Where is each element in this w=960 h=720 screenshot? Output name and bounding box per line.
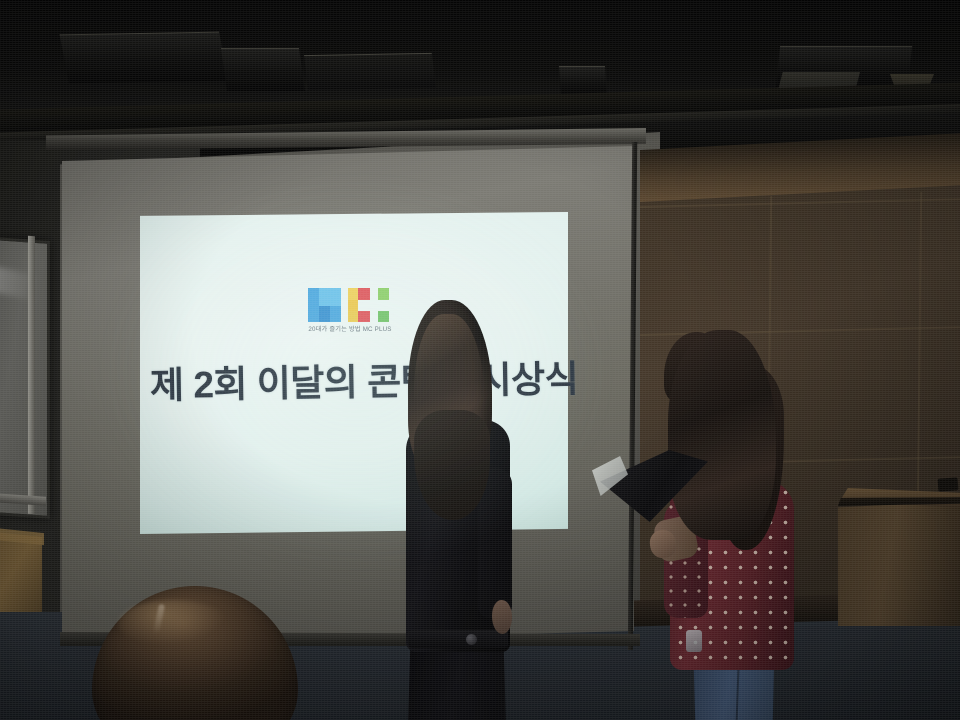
- logo-block-c-bot-yellow: [348, 311, 358, 322]
- desk-object: [938, 477, 959, 491]
- logo-block-m-left-stem: [308, 288, 319, 322]
- ceiling-light-fixture: [559, 66, 607, 95]
- black-skirt: [404, 644, 510, 720]
- logo-block-dot-top-green: [378, 288, 389, 300]
- logo-block-c-top-red: [358, 288, 370, 300]
- presenter-black-jacket: [392, 300, 540, 720]
- logo-block-c-mid-yellow: [348, 300, 358, 311]
- presenter-polkadot: [646, 330, 846, 720]
- ceiling-light-fixture: [221, 48, 305, 91]
- logo-block-c-bot-red: [358, 311, 370, 322]
- audience-hair-highlight: [118, 600, 228, 646]
- logo-block-m-left-diag: [319, 288, 330, 306]
- logo-block-m-right-stem: [330, 306, 341, 322]
- logo-block-dot-bot-green: [378, 311, 389, 322]
- blouse-tag: [686, 630, 702, 652]
- ceiling-light-fixture: [304, 53, 436, 90]
- logo-block-c-top-yellow: [348, 288, 358, 300]
- photo-scene: 20대가 즐기는 방법 MC PLUS 제 2회 이달의 콘텐츠 시상식: [0, 0, 960, 720]
- left-hand: [492, 600, 512, 634]
- logo-block-grid: [300, 284, 400, 324]
- logo-tagline: 20대가 즐기는 방법 MC PLUS: [299, 324, 401, 333]
- logo-block-m-right-diag: [330, 288, 341, 306]
- whiteboard-frame: [28, 236, 35, 514]
- jacket-waistband: [408, 630, 508, 648]
- jacket-button: [466, 634, 477, 645]
- mc-plus-logo: 20대가 즐기는 방법 MC PLUS: [300, 284, 400, 346]
- wooden-desk: [838, 500, 960, 626]
- logo-block-m-valley: [319, 306, 330, 322]
- long-dark-hair: [668, 330, 776, 540]
- ceiling-light-fixture: [60, 32, 229, 84]
